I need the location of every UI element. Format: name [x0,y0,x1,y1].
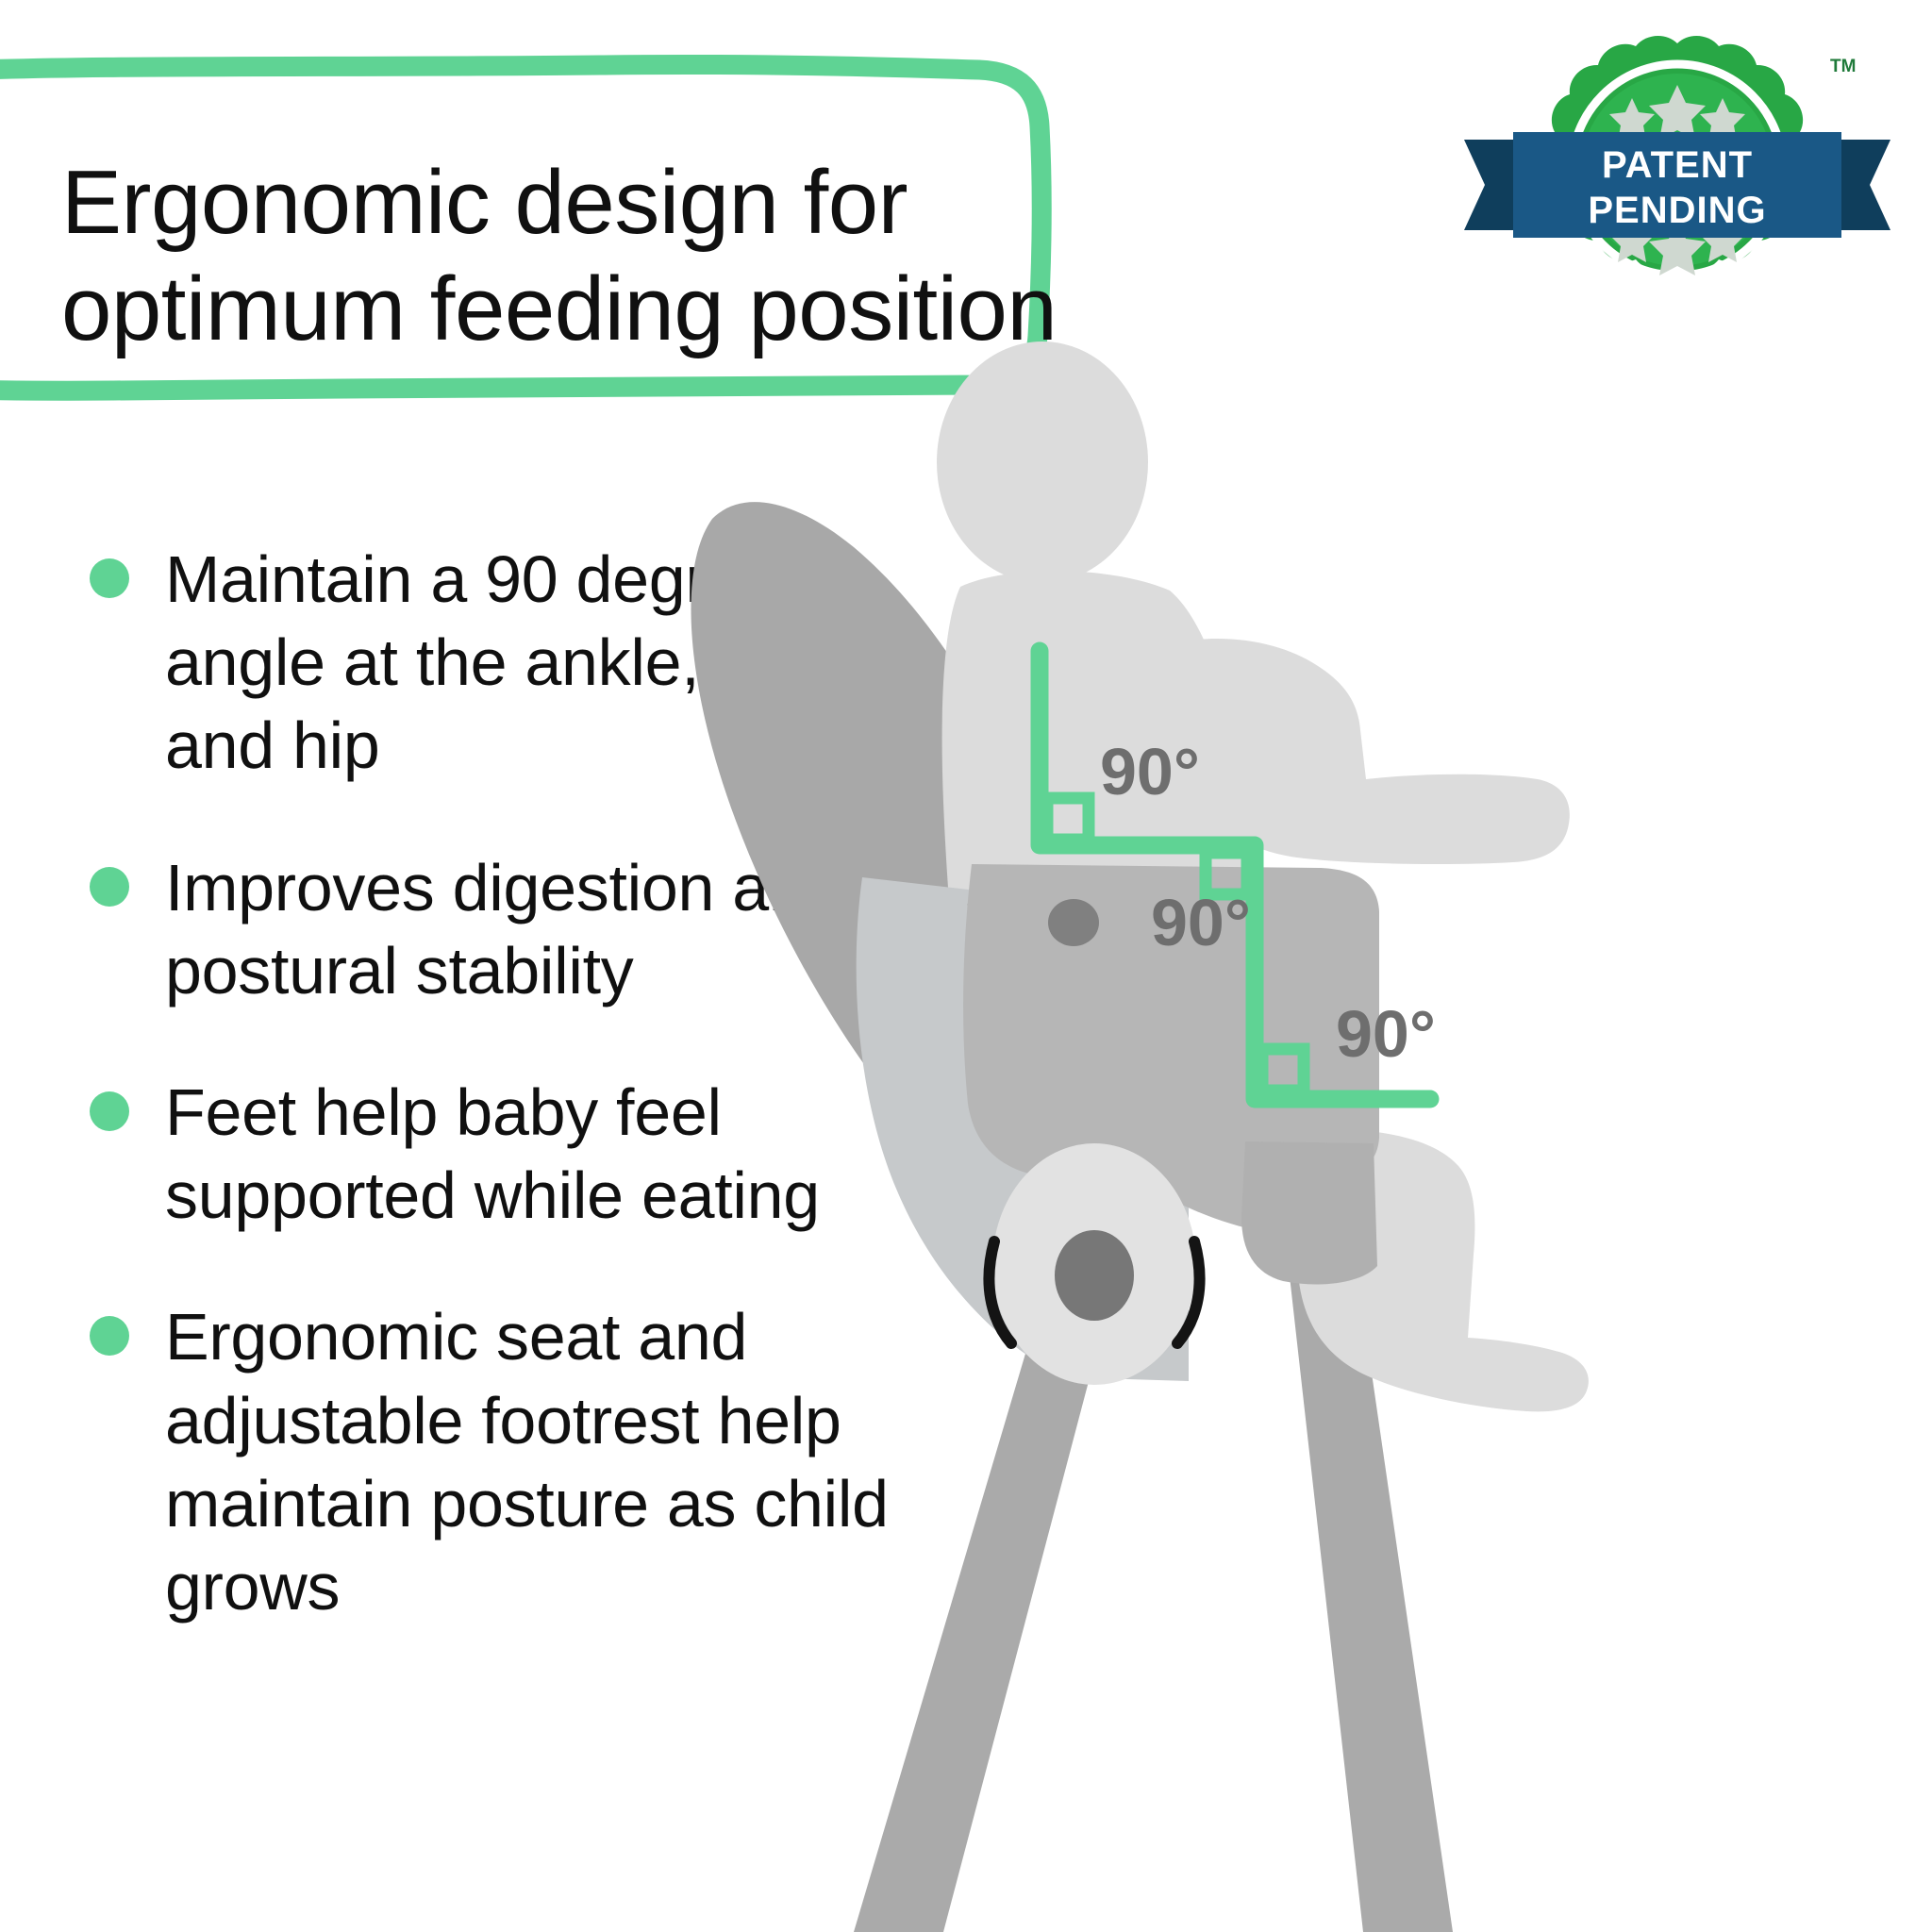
angle-label-hip: 90° [1100,735,1200,808]
patent-pending-badge: PATENT PENDING TM [1460,26,1894,328]
bullet-dot-icon [90,1316,129,1356]
chair-footrest [1241,1141,1377,1284]
angle-label-knee: 90° [1151,886,1251,959]
baby-arm [1167,639,1570,864]
bullet-dot-icon [90,1091,129,1131]
bullet-dot-icon [90,867,129,907]
illustration-graphic: 90° 90° 90° [660,311,1932,1932]
hub-center-icon [1055,1230,1134,1321]
angle-label-ankle: 90° [1336,997,1436,1071]
baby-head [937,341,1148,583]
highchair-illustration: 90° 90° 90° [660,311,1932,1932]
trademark-icon: TM [1830,57,1856,76]
title-line-1: Ergonomic design for [61,152,908,253]
badge-line-2: PENDING [1588,190,1766,231]
seat-knob-icon [1048,899,1099,946]
badge-graphic: PATENT PENDING TM [1460,26,1894,328]
badge-line-1: PATENT [1602,144,1753,186]
bullet-dot-icon [90,558,129,598]
